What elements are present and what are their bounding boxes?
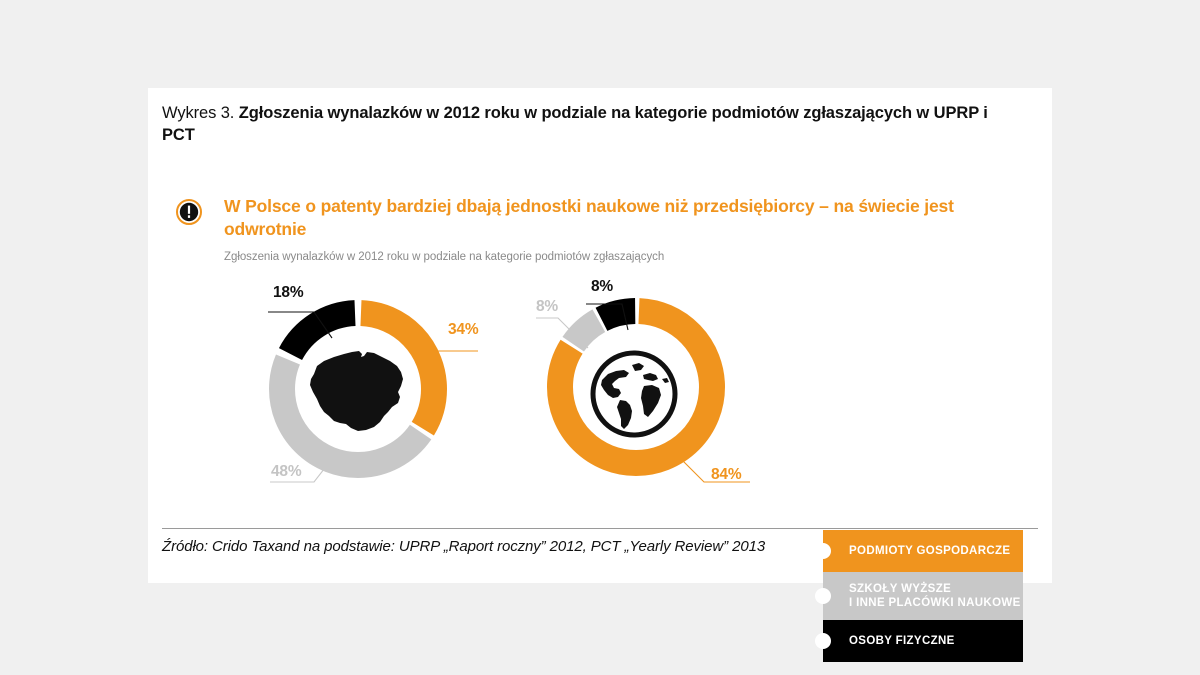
charts-area: 18% 48% 34% 8% 8% 84% — [148, 278, 1052, 508]
leader-line-world-gray — [532, 312, 610, 358]
source-text: Źródło: Crido Taxand na podstawie: UPRP … — [162, 538, 1038, 555]
value-label-pl-individual: 18% — [273, 284, 303, 302]
leader-line-pl-34 — [416, 333, 496, 381]
legend-item-label: OSOBY FIZYCZNE — [849, 634, 955, 648]
value-label-world-business: 84% — [711, 466, 741, 484]
infographic-page: Wykres 3. Zgłoszenia wynalazków w 2012 r… — [0, 0, 1200, 675]
figure-card: Wykres 3. Zgłoszenia wynalazków w 2012 r… — [148, 88, 1052, 583]
page-title: Zgłoszenia wynalazków w 2012 roku w podz… — [162, 104, 988, 144]
figure-label: Wykres 3. — [162, 104, 239, 122]
value-label-pl-business: 34% — [448, 321, 478, 339]
value-label-world-individual: 8% — [591, 278, 613, 296]
legend-notch-icon — [815, 633, 831, 649]
legend-item-label-line2: I INNE PLACÓWKI NAUKOWE — [849, 596, 1021, 610]
value-label-world-academic: 8% — [536, 298, 558, 316]
headline-subtitle: Zgłoszenia wynalazków w 2012 roku w podz… — [224, 251, 994, 263]
legend-notch-icon — [815, 588, 831, 604]
exclamation-circle-icon — [176, 199, 202, 225]
legend-item-label-line1: SZKOŁY WYŻSZE — [849, 582, 1021, 596]
source-divider — [162, 528, 1038, 529]
leader-line-pl-18 — [266, 298, 346, 348]
headline-text: W Polsce o patenty bardziej dbają jednos… — [224, 195, 994, 241]
figure-caption: Wykres 3. Zgłoszenia wynalazków w 2012 r… — [162, 102, 992, 146]
value-label-pl-academic: 48% — [271, 463, 301, 481]
legend-item-academic[interactable]: SZKOŁY WYŻSZE I INNE PLACÓWKI NAUKOWE — [823, 572, 1023, 620]
legend-item-individual[interactable]: OSOBY FIZYCZNE — [823, 620, 1023, 662]
